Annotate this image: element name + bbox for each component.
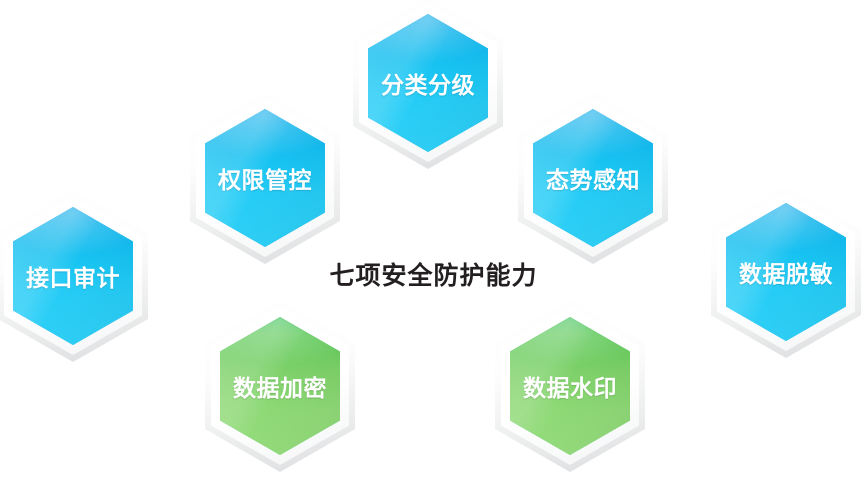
hexagon-node-classification[interactable]: 分类分级 — [353, 0, 503, 169]
hexagon-node-permission-control[interactable]: 权限管控 — [190, 92, 340, 264]
hexagon-node-data-watermark[interactable]: 数据水印 — [495, 300, 645, 472]
security-capability-diagram: 分类分级权限管控态势感知接口审计数据脱敏数据加密数据水印 七项安全防护能力 — [0, 0, 867, 492]
diagram-center-title: 七项安全防护能力 — [0, 263, 867, 288]
hexagon-node-situation-awareness[interactable]: 态势感知 — [518, 92, 668, 264]
hexagon-node-data-encryption[interactable]: 数据加密 — [205, 300, 355, 472]
